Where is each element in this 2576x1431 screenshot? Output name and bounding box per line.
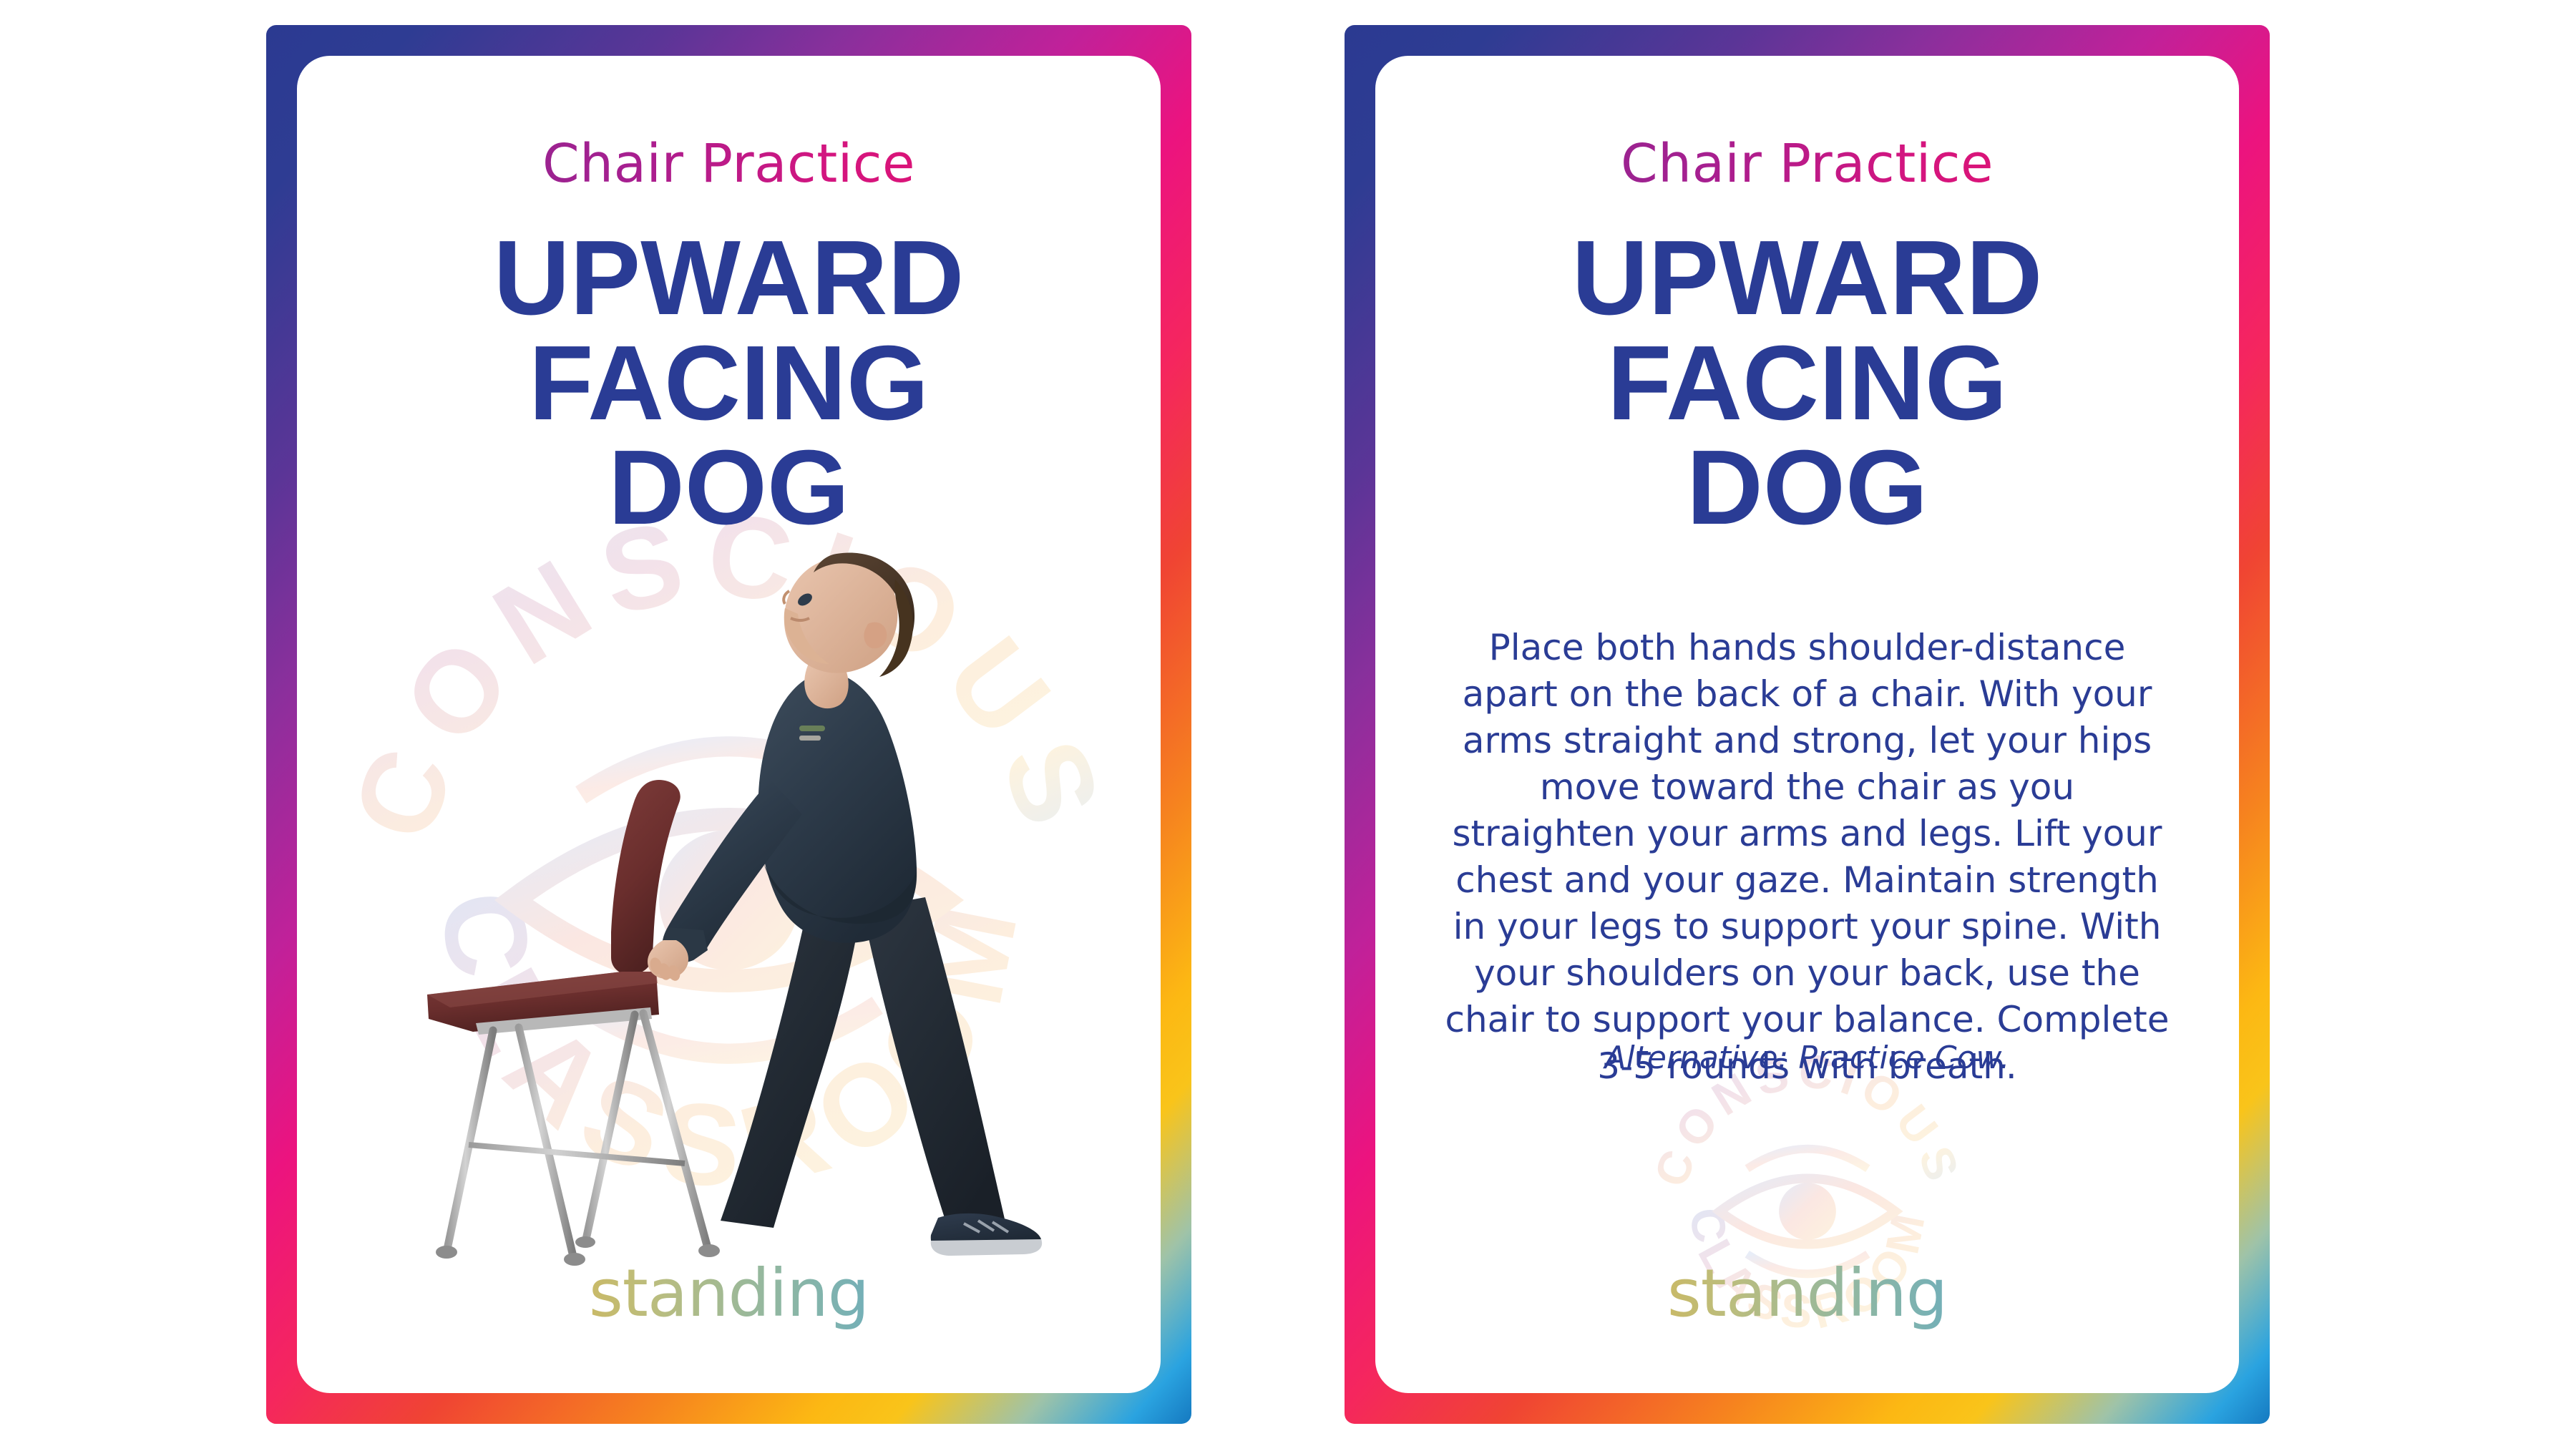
cards-canvas: CONSCIOUS CLASSROOM Chair Practice [0, 0, 2576, 1431]
card-eyebrow-back: Chair Practice [1375, 133, 2239, 195]
pose-category-back: standing [1375, 1255, 2239, 1332]
card-eyebrow-front: Chair Practice [297, 133, 1161, 195]
pose-card-front[interactable]: CONSCIOUS CLASSROOM Chair Practice [266, 25, 1191, 1424]
chair-graphic [427, 780, 720, 1266]
pose-alternative: Alternative: Practice Cow. [1444, 1040, 2170, 1076]
pose-instructions: Place both hands shoulder-distance apart… [1444, 625, 2170, 1090]
pose-photo-front [297, 514, 1161, 1294]
pose-card-back[interactable]: CONSCIOUS CLASSROOM Chair Practice [1345, 25, 2270, 1424]
pose-category-front: standing [297, 1255, 1161, 1332]
card-inner-back: CONSCIOUS CLASSROOM Chair Practice [1375, 56, 2239, 1393]
pose-title-back: UPWARD FACING DOG [1375, 226, 2239, 541]
pose-title-front: UPWARD FACING DOG [297, 226, 1161, 541]
person-graphic [648, 552, 1042, 1256]
card-inner-front: CONSCIOUS CLASSROOM Chair Practice [297, 56, 1161, 1393]
